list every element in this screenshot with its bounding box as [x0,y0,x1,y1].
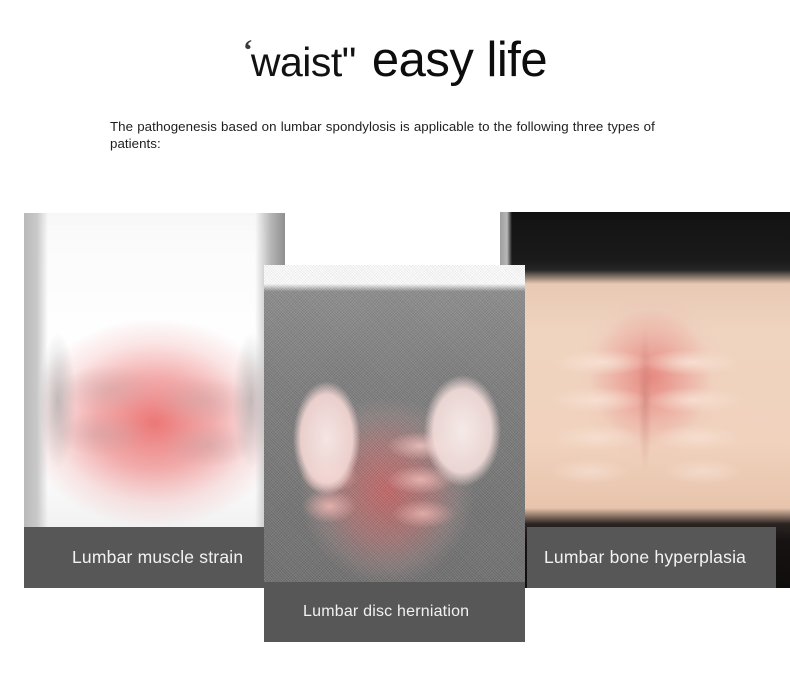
condition-gallery: Lumbar muscle strain Lumbar bone hyperpl… [0,0,790,692]
caption-label: Lumbar muscle strain [72,547,243,568]
caption-label: Lumbar disc herniation [303,603,469,621]
caption-lumbar-bone-hyperplasia: Lumbar bone hyperplasia [527,527,776,588]
caption-label: Lumbar bone hyperplasia [544,547,746,568]
caption-lumbar-muscle-strain: Lumbar muscle strain [24,527,285,588]
page-root: ‘waist"easy life The pathogenesis based … [0,0,790,692]
caption-lumbar-disc-herniation: Lumbar disc herniation [264,582,525,642]
